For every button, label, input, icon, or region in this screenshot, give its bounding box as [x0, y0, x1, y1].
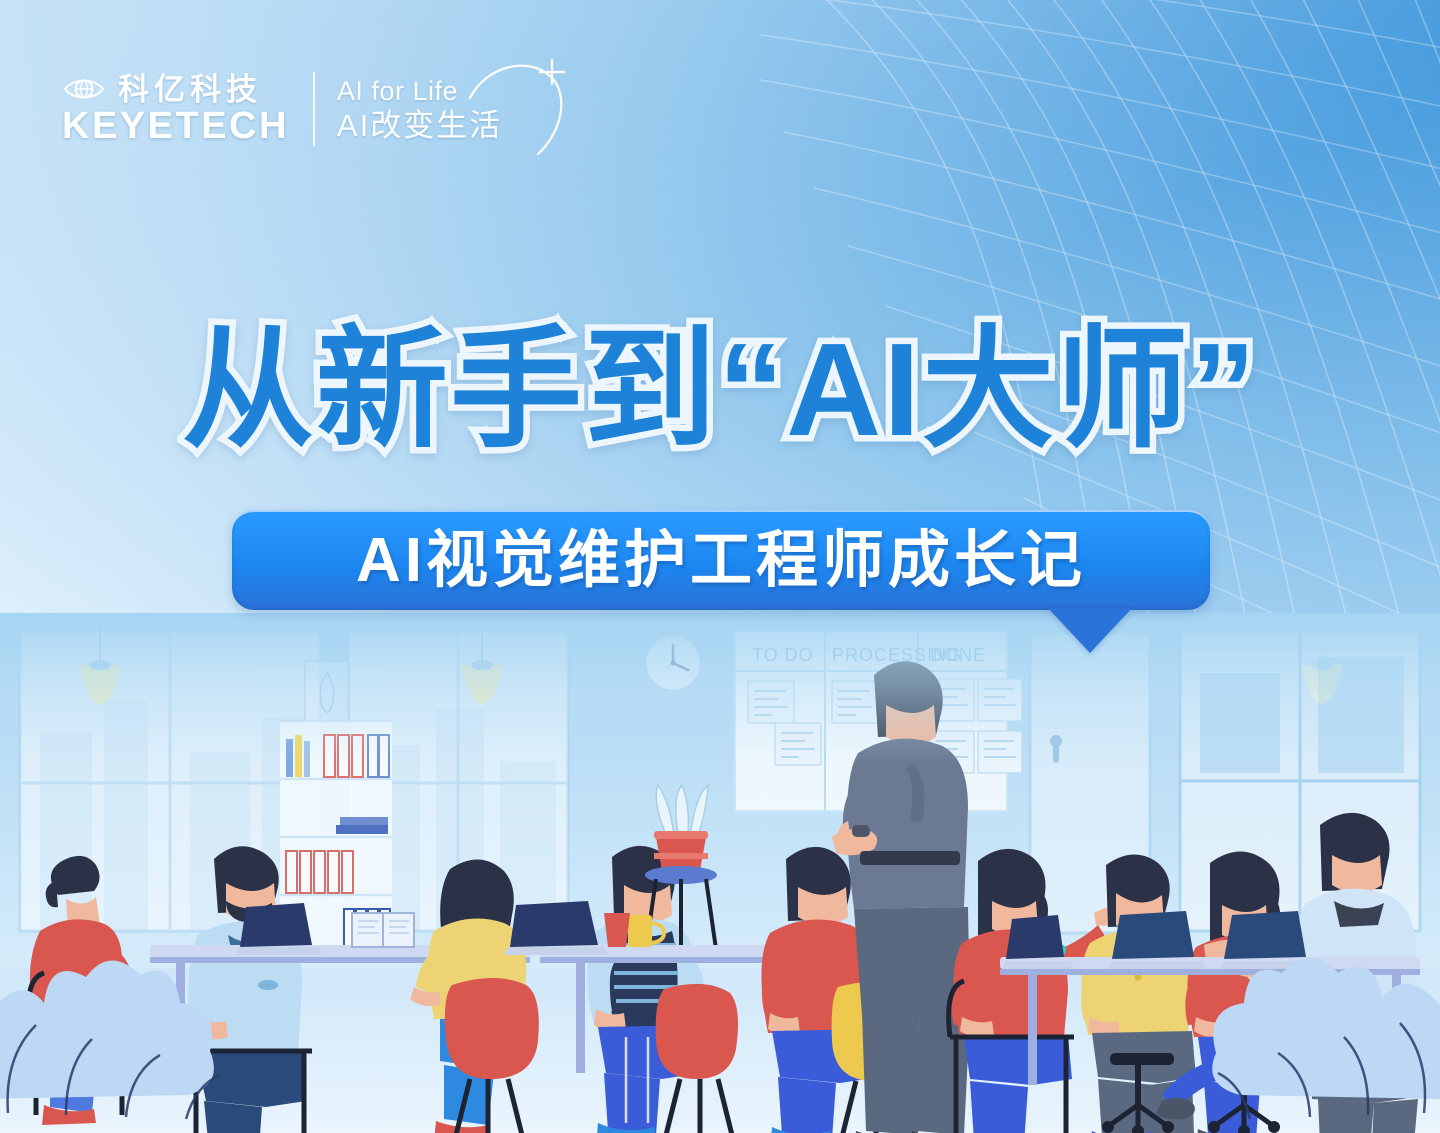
brand-name-en: KEYETECH: [62, 107, 289, 145]
brand-logo-row-cn: 科亿科技: [62, 74, 289, 105]
subtitle-banner-wrap: AI视觉维护工程师成长记: [232, 510, 1210, 610]
swoosh-sparkle-icon: [466, 54, 576, 162]
svg-text:DONE: DONE: [930, 645, 986, 665]
office-training-illustration: TO DO PROCESSING DONE: [0, 613, 1440, 1133]
poster-banner: 科亿科技 KEYETECH AI for Life AI改变生活 从新手到“AI…: [0, 0, 1440, 1133]
logo-divider: [313, 72, 315, 146]
svg-text:TO DO: TO DO: [752, 645, 814, 665]
brand-name-cn: 科亿科技: [118, 74, 262, 105]
headline: 从新手到“AI大师”: [0, 324, 1440, 456]
subtitle-banner-tail: [1048, 608, 1132, 653]
brand-logo-left: 科亿科技 KEYETECH: [62, 74, 289, 145]
headline-text: 从新手到“AI大师”: [182, 324, 1258, 456]
eye-icon: [62, 74, 106, 104]
brand-logo: 科亿科技 KEYETECH AI for Life AI改变生活: [62, 72, 560, 146]
brand-tagline-group: AI for Life AI改变生活: [337, 78, 560, 141]
subtitle-banner: AI视觉维护工程师成长记: [232, 510, 1210, 610]
subtitle-text: AI视觉维护工程师成长记: [356, 530, 1086, 592]
